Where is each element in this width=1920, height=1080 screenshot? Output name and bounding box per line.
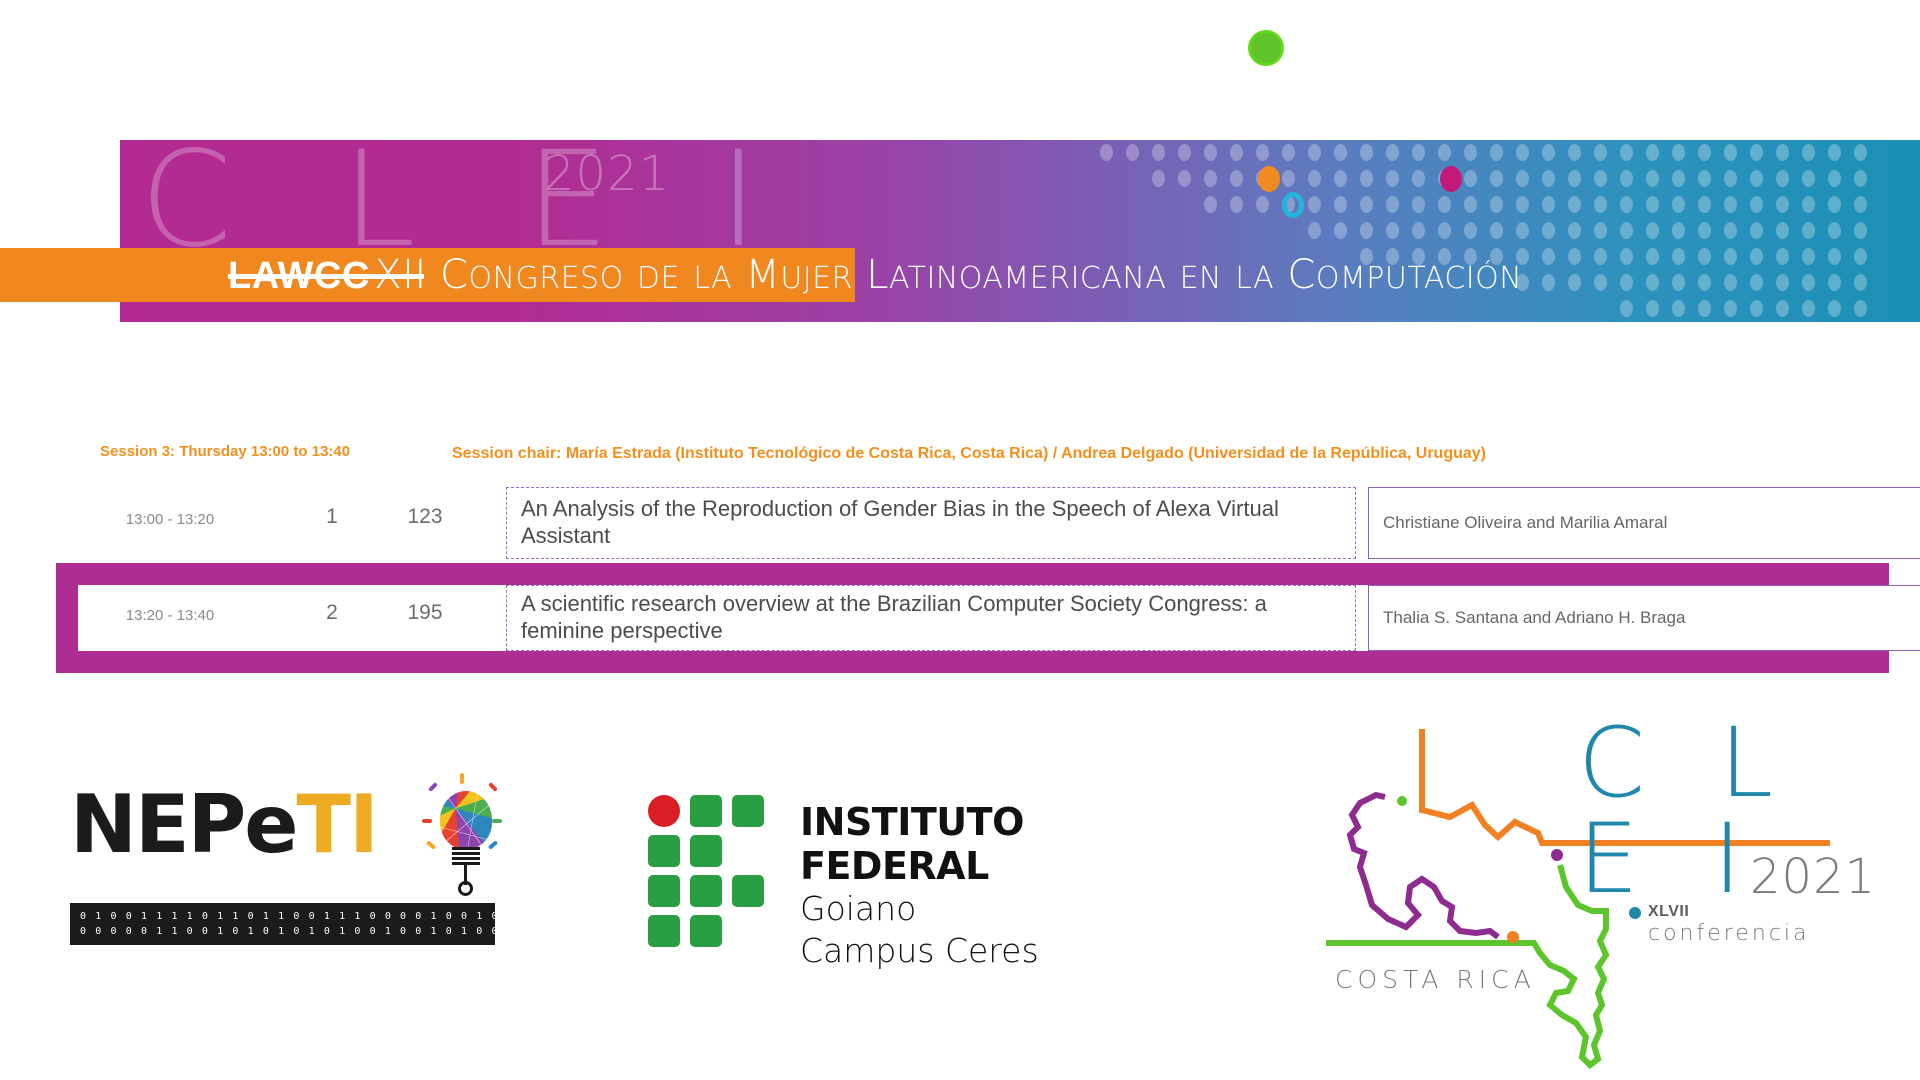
instituto-federal-logo: INSTITUTO FEDERAL Goiano Campus Ceres	[648, 795, 1168, 955]
banner-dot	[1360, 144, 1373, 161]
banner-dot	[1542, 248, 1555, 265]
banner-dot	[1282, 170, 1295, 187]
banner-dot	[1672, 274, 1685, 291]
banner-dot	[1724, 300, 1737, 317]
bulb-ray	[428, 782, 438, 792]
banner-dot	[1828, 144, 1841, 161]
nepeti-logo: NEPeTI 0 1 0 0 1 1 1 1 0 1 1 0 1 1 0 0 1…	[70, 785, 530, 960]
banner-dot	[1724, 196, 1737, 213]
banner-dot	[1126, 144, 1139, 161]
banner-dot	[1568, 170, 1581, 187]
banner-dot	[1776, 170, 1789, 187]
banner-dot	[1776, 300, 1789, 317]
banner-dot	[1724, 248, 1737, 265]
banner-dot	[1854, 222, 1867, 239]
banner-dot	[1750, 248, 1763, 265]
green-accent-dot	[1251, 33, 1281, 63]
if-green-block	[690, 795, 722, 827]
lawcc-strikethrough	[228, 274, 424, 279]
banner-dot	[1230, 196, 1243, 213]
banner-dot	[1308, 196, 1321, 213]
row-time: 13:00 - 13:20	[100, 511, 240, 528]
banner-dot	[1776, 196, 1789, 213]
if-green-block	[690, 875, 722, 907]
row-authors[interactable]: Christiane Oliveira and Marilia Amaral	[1368, 487, 1920, 559]
map-dot-purple	[1551, 849, 1563, 861]
banner-dot	[1412, 170, 1425, 187]
banner-dot	[1542, 144, 1555, 161]
banner-dot	[1672, 170, 1685, 187]
slide-canvas: C L E I 2021 LAWCC XII CONGRESO DE LA MU…	[0, 0, 1920, 1080]
banner-dot	[1438, 196, 1451, 213]
banner-dot	[1542, 170, 1555, 187]
banner-dot	[1308, 170, 1321, 187]
if-line-3: Campus Ceres	[800, 930, 1168, 971]
banner-dot	[1620, 248, 1633, 265]
binary-strip: 0 1 0 0 1 1 1 1 0 1 1 0 1 1 0 0 1 1 1 0 …	[70, 903, 495, 945]
banner-dot	[1854, 170, 1867, 187]
banner-dot	[1776, 144, 1789, 161]
banner-dot	[1724, 144, 1737, 161]
banner-dot	[1490, 170, 1503, 187]
clei-year: 2021	[1750, 849, 1876, 905]
banner-dot	[1308, 222, 1321, 239]
banner-dot	[1620, 144, 1633, 161]
banner-dot	[1828, 300, 1841, 317]
nepeti-name-dark: NEPe	[70, 778, 297, 871]
banner-dot	[1672, 300, 1685, 317]
session-chair: Session chair: María Estrada (Instituto …	[452, 445, 1486, 463]
banner-dot	[1750, 222, 1763, 239]
banner-dot	[1594, 144, 1607, 161]
banner-dot	[1516, 196, 1529, 213]
banner-dot	[1464, 170, 1477, 187]
banner-dot	[1204, 196, 1217, 213]
banner-dot	[1620, 274, 1633, 291]
banner-dot	[1698, 248, 1711, 265]
banner-dot	[1828, 222, 1841, 239]
banner-dot	[1594, 196, 1607, 213]
banner-dot	[1386, 222, 1399, 239]
banner-dot	[1334, 144, 1347, 161]
bulb-neck	[452, 847, 480, 865]
banner-dot	[1568, 248, 1581, 265]
banner-dot	[1698, 274, 1711, 291]
banner-dot	[1620, 300, 1633, 317]
banner-dot	[1802, 300, 1815, 317]
banner-dot	[1698, 196, 1711, 213]
banner-dot	[1776, 222, 1789, 239]
banner-dot	[1386, 144, 1399, 161]
row-number: 1	[310, 505, 354, 529]
banner-dot	[1828, 170, 1841, 187]
banner-dot	[1802, 222, 1815, 239]
nepeti-name-yellow: TI	[297, 778, 377, 871]
banner-dot	[1802, 274, 1815, 291]
banner-dot	[1620, 222, 1633, 239]
clei-conference-label: conferencia	[1648, 921, 1810, 946]
session-label: Session 3: Thursday 13:00 to 13:40	[100, 443, 350, 460]
if-green-block	[648, 835, 680, 867]
banner-dot	[1178, 170, 1191, 187]
nepeti-wordmark: NEPeTI	[70, 785, 377, 865]
if-green-block	[732, 875, 764, 907]
banner-dot	[1490, 144, 1503, 161]
banner-dot	[1750, 170, 1763, 187]
banner-accent-dot-cyan	[1282, 192, 1304, 218]
banner-dot	[1152, 170, 1165, 187]
banner-dot	[1490, 222, 1503, 239]
if-line-1: INSTITUTO FEDERAL	[800, 801, 1168, 888]
clei-costa-rica-logo: C L E I 2021 XLVII conferencia COSTA RIC…	[1310, 715, 1920, 1075]
banner-dot	[1750, 300, 1763, 317]
banner-dot	[1438, 222, 1451, 239]
if-green-block	[648, 875, 680, 907]
if-red-circle	[648, 795, 680, 827]
banner-dot	[1412, 222, 1425, 239]
binary-line-1: 0 1 0 0 1 1 1 1 0 1 1 0 1 1 0 0 1 1 1 0 …	[80, 909, 485, 925]
banner-dot	[1360, 170, 1373, 187]
banner-dot	[1776, 274, 1789, 291]
banner-dot	[1646, 222, 1659, 239]
banner-dot	[1334, 222, 1347, 239]
banner-dot	[1828, 196, 1841, 213]
banner-dot	[1412, 144, 1425, 161]
banner-dot	[1672, 222, 1685, 239]
banner-dot	[1646, 196, 1659, 213]
banner-dot	[1230, 170, 1243, 187]
banner-dot	[1464, 222, 1477, 239]
banner-dot	[1516, 170, 1529, 187]
bulb-ray	[492, 819, 502, 823]
if-green-block	[690, 835, 722, 867]
banner-dot	[1568, 222, 1581, 239]
if-green-block	[732, 795, 764, 827]
banner-dot	[1568, 144, 1581, 161]
banner-dot	[1542, 222, 1555, 239]
banner-dot	[1464, 144, 1477, 161]
banner-dot	[1386, 170, 1399, 187]
banner-dot	[1854, 274, 1867, 291]
banner-accent-dot-orange	[1258, 166, 1280, 192]
banner-title-text: XII CONGRESO DE LA MUJER LATINOAMERICANA…	[374, 252, 1522, 298]
banner-dot	[1802, 170, 1815, 187]
banner-dot	[1802, 248, 1815, 265]
banner-dot	[1256, 144, 1269, 161]
banner-dot	[1542, 274, 1555, 291]
banner-ghost-year: 2021	[544, 146, 670, 202]
banner-dot	[1698, 222, 1711, 239]
bulb-glass	[440, 791, 492, 849]
banner-dot	[1516, 144, 1529, 161]
banner-dot	[1152, 144, 1165, 161]
clei-country-label: COSTA RICA	[1335, 965, 1536, 994]
banner-dot	[1802, 196, 1815, 213]
row-paper-title[interactable]: An Analysis of the Reproduction of Gende…	[506, 487, 1356, 559]
banner-dot	[1334, 196, 1347, 213]
banner-dot	[1802, 144, 1815, 161]
banner-dot	[1516, 222, 1529, 239]
banner-dot	[1698, 144, 1711, 161]
banner-dot	[1594, 222, 1607, 239]
banner-accent-dot-magenta	[1440, 166, 1462, 192]
if-green-block	[648, 915, 680, 947]
row-paper-id: 195	[390, 601, 460, 625]
banner-dot	[1334, 170, 1347, 187]
if-grid-icon	[648, 795, 768, 947]
banner-dot	[1828, 248, 1841, 265]
map-dot-green	[1397, 796, 1407, 806]
banner-dot	[1646, 144, 1659, 161]
banner-dot	[1750, 196, 1763, 213]
banner-dot	[1620, 196, 1633, 213]
banner-dot	[1854, 300, 1867, 317]
banner-dot	[1724, 274, 1737, 291]
banner-dot	[1594, 274, 1607, 291]
row-number: 2	[310, 601, 354, 625]
banner-dot	[1828, 274, 1841, 291]
banner-dot	[1594, 248, 1607, 265]
banner-dot	[1854, 248, 1867, 265]
banner-dot	[1568, 196, 1581, 213]
bulb-ray	[422, 819, 432, 823]
banner-dot	[1750, 144, 1763, 161]
banner-dot	[1360, 196, 1373, 213]
banner-dot	[1646, 248, 1659, 265]
banner-dot	[1568, 274, 1581, 291]
banner-dot	[1724, 222, 1737, 239]
banner-dot	[1100, 144, 1113, 161]
banner-dot	[1438, 144, 1451, 161]
bulb-ring	[458, 881, 473, 896]
binary-line-2: 0 0 0 0 0 1 1 0 0 1 0 1 0 1 0 1 0 1 0 0 …	[80, 924, 485, 940]
banner-dot	[1308, 144, 1321, 161]
banner-dot	[1646, 274, 1659, 291]
banner-dot	[1256, 196, 1269, 213]
banner-dot	[1672, 144, 1685, 161]
banner-dot	[1178, 144, 1191, 161]
map-dot-orange	[1507, 931, 1519, 943]
row-paper-id: 123	[390, 505, 460, 529]
if-text-block: INSTITUTO FEDERAL Goiano Campus Ceres	[800, 801, 1168, 971]
banner-dot	[1672, 248, 1685, 265]
bulb-ray	[426, 840, 436, 849]
banner-dot	[1620, 170, 1633, 187]
banner-dot	[1646, 300, 1659, 317]
banner-dot	[1464, 196, 1477, 213]
banner-dot	[1698, 300, 1711, 317]
clei-edition: XLVII	[1648, 903, 1689, 921]
banner-dot	[1282, 144, 1295, 161]
bulb-ray	[460, 773, 464, 784]
banner-dot	[1776, 248, 1789, 265]
banner-dot	[1594, 170, 1607, 187]
banner-dot	[1724, 170, 1737, 187]
banner-dot	[1230, 144, 1243, 161]
banner-dot	[1386, 196, 1399, 213]
banner-dot	[1854, 196, 1867, 213]
banner-dot	[1672, 196, 1685, 213]
if-green-block	[690, 915, 722, 947]
banner-dot	[1854, 144, 1867, 161]
banner-dot	[1698, 170, 1711, 187]
banner-dot	[1490, 196, 1503, 213]
lightbulb-icon	[422, 777, 502, 887]
banner-dot	[1204, 144, 1217, 161]
banner-dot	[1204, 170, 1217, 187]
row-time: 13:20 - 13:40	[100, 607, 240, 624]
banner-dot	[1360, 222, 1373, 239]
banner-dot	[1412, 196, 1425, 213]
row-paper-title[interactable]: A scientific research overview at the Br…	[506, 585, 1356, 651]
banner-dot	[1646, 170, 1659, 187]
banner-dot	[1750, 274, 1763, 291]
if-line-2: Goiano	[800, 888, 1168, 929]
row-authors[interactable]: Thalia S. Santana and Adriano H. Braga	[1368, 585, 1920, 651]
banner-dot	[1542, 196, 1555, 213]
